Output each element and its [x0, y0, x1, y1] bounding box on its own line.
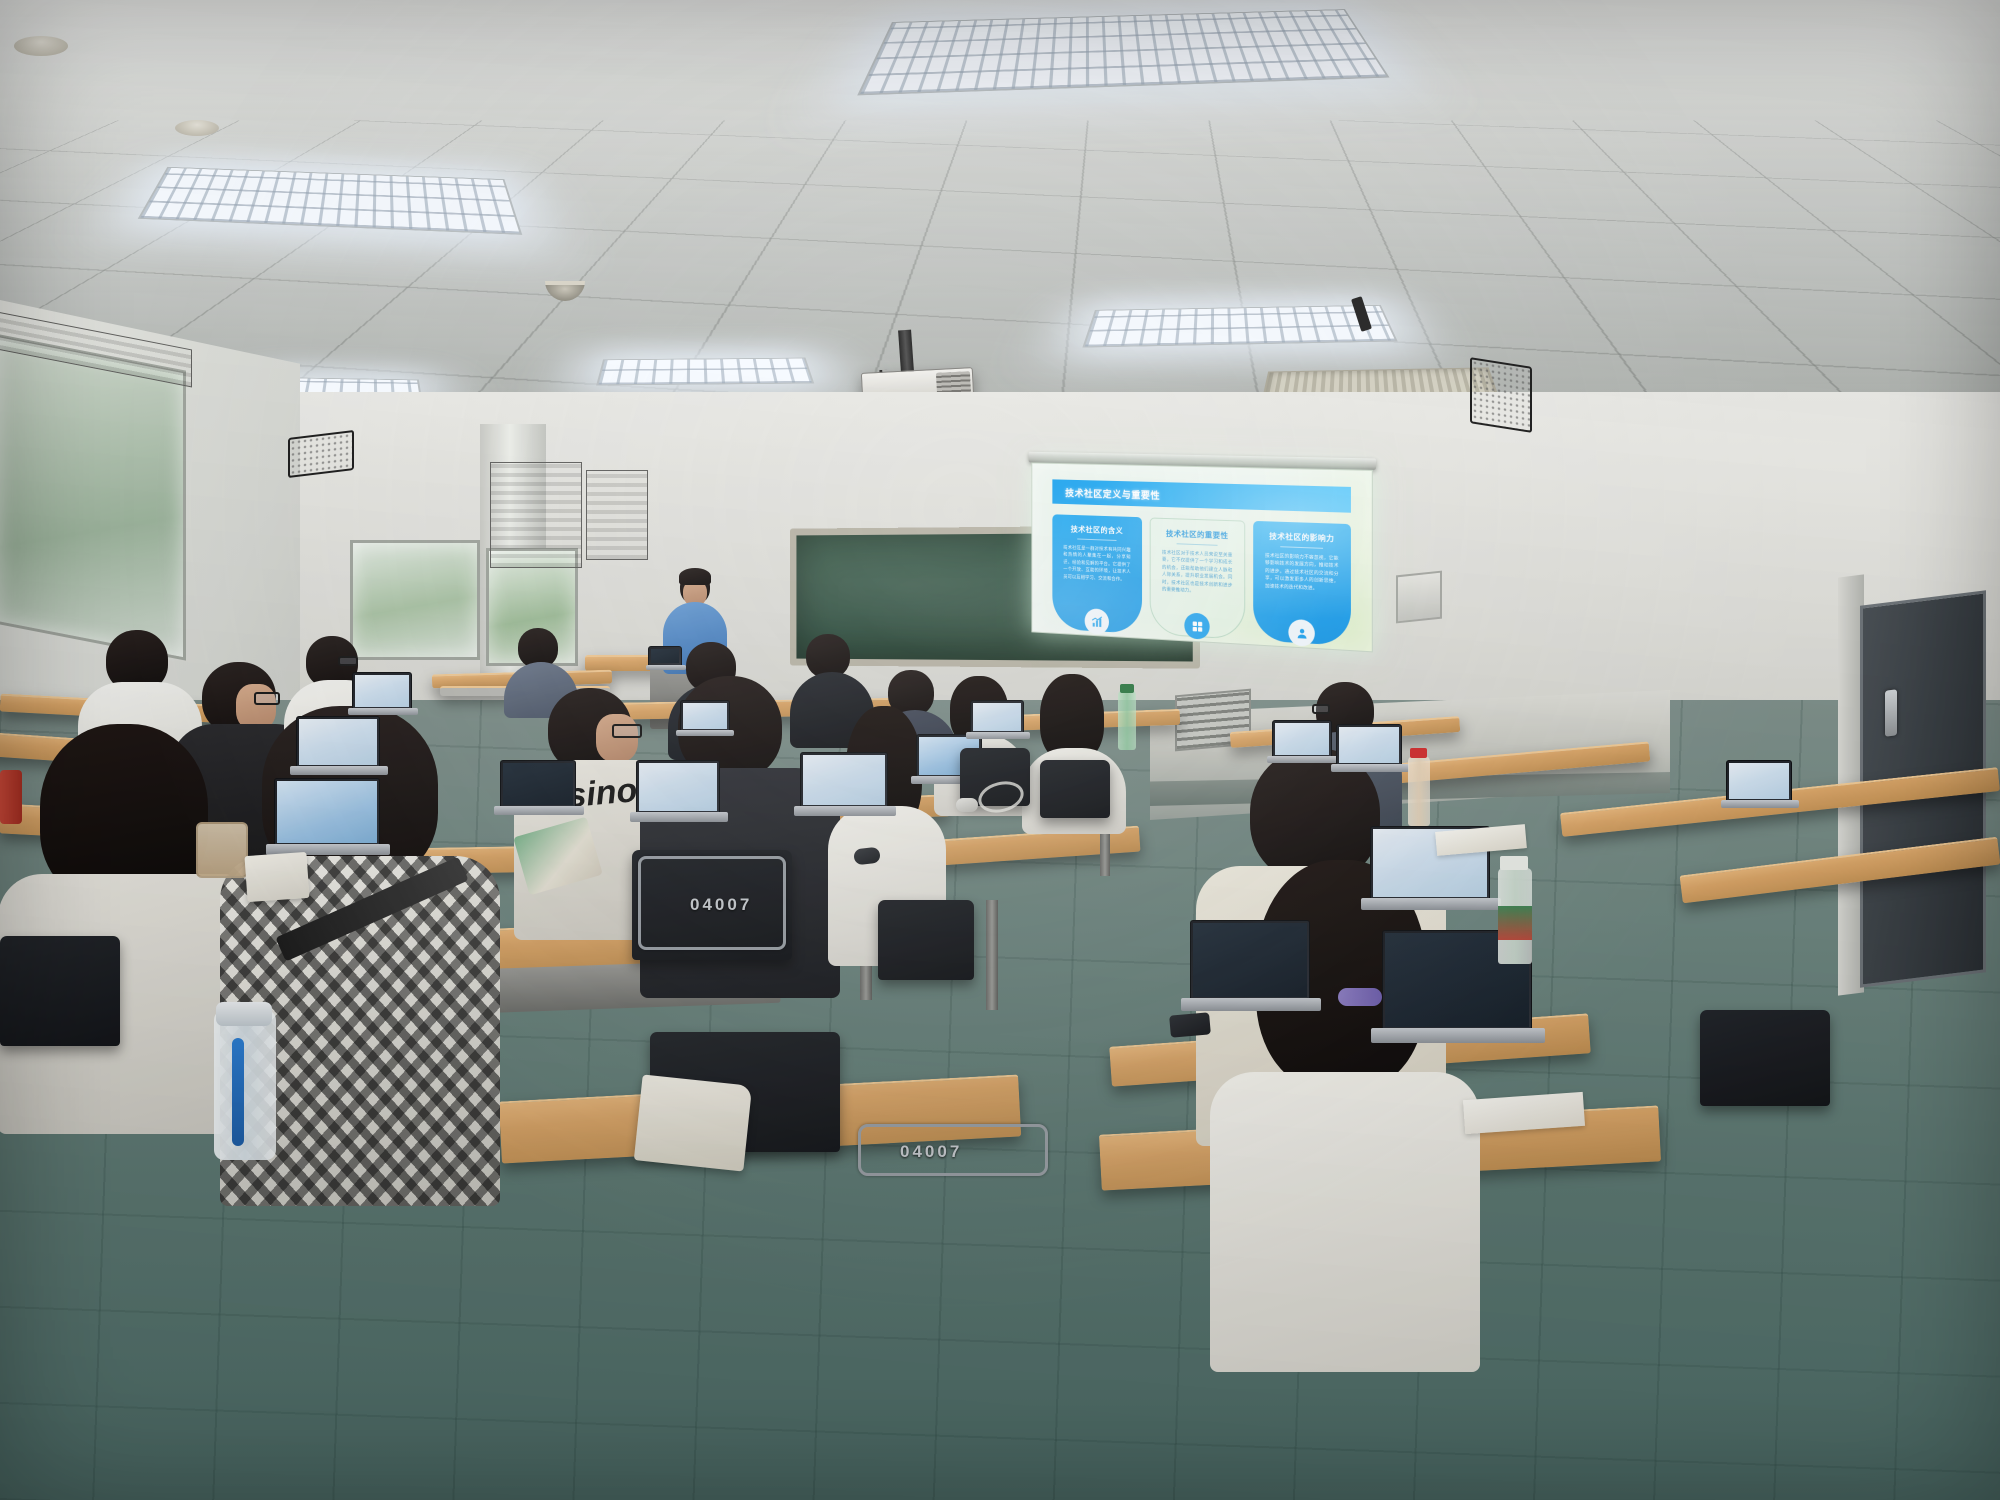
- slide-card-2-body: 技术社区对于技术人员来说至关重要，它不仅提供了一个学习和成长的机会，还能帮助他们…: [1162, 549, 1232, 597]
- presenter-hair: [679, 568, 711, 585]
- tumbler-bottle[interactable]: [214, 1010, 276, 1160]
- wall-control-box[interactable]: [1396, 571, 1442, 624]
- desk-leg: [986, 900, 998, 1010]
- projection-screen: 技术社区定义与重要性 技术社区的含义 技术社区是一群对技术有共同兴趣和热情的人聚…: [1029, 452, 1376, 656]
- window-blind: [490, 462, 582, 568]
- top-light: [1210, 1072, 1480, 1372]
- slide-card-1-heading: 技术社区的含义: [1071, 524, 1123, 537]
- grid-squares-icon: [1184, 612, 1209, 639]
- smoke-detector-icon: [175, 120, 219, 136]
- smartphone[interactable]: [1169, 1012, 1211, 1037]
- slide-card-2: 技术社区的重要性 技术社区对于技术人员来说至关重要，它不仅提供了一个学习和成长的…: [1150, 517, 1246, 639]
- hair-tie: [1338, 988, 1382, 1006]
- bottle-cap: [1120, 684, 1134, 693]
- glasses-icon: [1312, 704, 1330, 714]
- divider: [1077, 538, 1117, 540]
- slide-card-3-body: 技术社区的影响力不容忽视，它能够影响技术的发展方向，推动技术的进步。通过技术社区…: [1265, 552, 1338, 593]
- glasses-icon: [254, 692, 280, 705]
- water-bottle[interactable]: [1118, 690, 1136, 750]
- slide-card-row: 技术社区的含义 技术社区是一群对技术有共同兴趣和热情的人聚集在一起，分享知识、经…: [1052, 514, 1351, 646]
- notebook[interactable]: [244, 852, 309, 902]
- chair[interactable]: [1040, 760, 1110, 818]
- window-left: [0, 333, 186, 660]
- person-icon: [1288, 619, 1314, 647]
- bottle-straw: [232, 1038, 244, 1146]
- ceiling-light-fixture: [1082, 305, 1397, 348]
- slide-title: 技术社区定义与重要性: [1065, 485, 1160, 501]
- window-center-left: [350, 540, 480, 660]
- door-handle-icon[interactable]: [1885, 689, 1897, 736]
- face: [596, 714, 638, 762]
- divider: [1176, 543, 1218, 546]
- ceiling-light-fixture: [596, 358, 814, 386]
- chair[interactable]: [1700, 1010, 1830, 1106]
- classroom-scene: 技术社区定义与重要性 技术社区的含义 技术社区是一群对技术有共同兴趣和热情的人聚…: [0, 0, 2000, 1500]
- seat-number-label: 04007: [690, 895, 752, 915]
- bottle-label: [1498, 906, 1532, 940]
- bottle-cap: [1410, 748, 1427, 758]
- chair[interactable]: [0, 936, 120, 1046]
- drink-cup[interactable]: [196, 822, 248, 878]
- paper-bag[interactable]: [634, 1074, 752, 1171]
- red-thermos[interactable]: [0, 770, 22, 824]
- bottle-cap: [216, 1002, 272, 1026]
- seat-number-label: 04007: [900, 1142, 962, 1162]
- bottle-cap: [1500, 856, 1528, 870]
- slide-card-3-heading: 技术社区的影响力: [1269, 531, 1334, 545]
- slide-card-1: 技术社区的含义 技术社区是一群对技术有共同兴趣和热情的人聚集在一起，分享知识、经…: [1052, 514, 1142, 634]
- divider: [1280, 546, 1323, 549]
- slide-card-1-body: 技术社区是一群对技术有共同兴趣和热情的人聚集在一起，分享知识、经验和见解的平台。…: [1063, 544, 1130, 583]
- slide-title-bar: 技术社区定义与重要性: [1052, 479, 1351, 512]
- glasses-icon: [338, 656, 358, 666]
- slide-card-2-heading: 技术社区的重要性: [1166, 528, 1228, 541]
- wall-speaker-left: [288, 430, 354, 478]
- glasses-icon: [612, 724, 642, 738]
- smoke-detector-icon: [14, 36, 68, 56]
- chair[interactable]: [878, 900, 974, 980]
- computer-mouse[interactable]: [956, 798, 978, 812]
- slide-card-3: 技术社区的影响力 技术社区的影响力不容忽视，它能够影响技术的发展方向，推动技术的…: [1253, 521, 1351, 646]
- window-blind: [586, 470, 648, 560]
- projected-slide: 技术社区定义与重要性 技术社区的含义 技术社区是一群对技术有共同兴趣和热情的人聚…: [1031, 462, 1372, 652]
- bar-chart-icon: [1085, 608, 1109, 635]
- water-bottle[interactable]: [1408, 756, 1430, 826]
- wall-speaker-right: [1470, 357, 1532, 433]
